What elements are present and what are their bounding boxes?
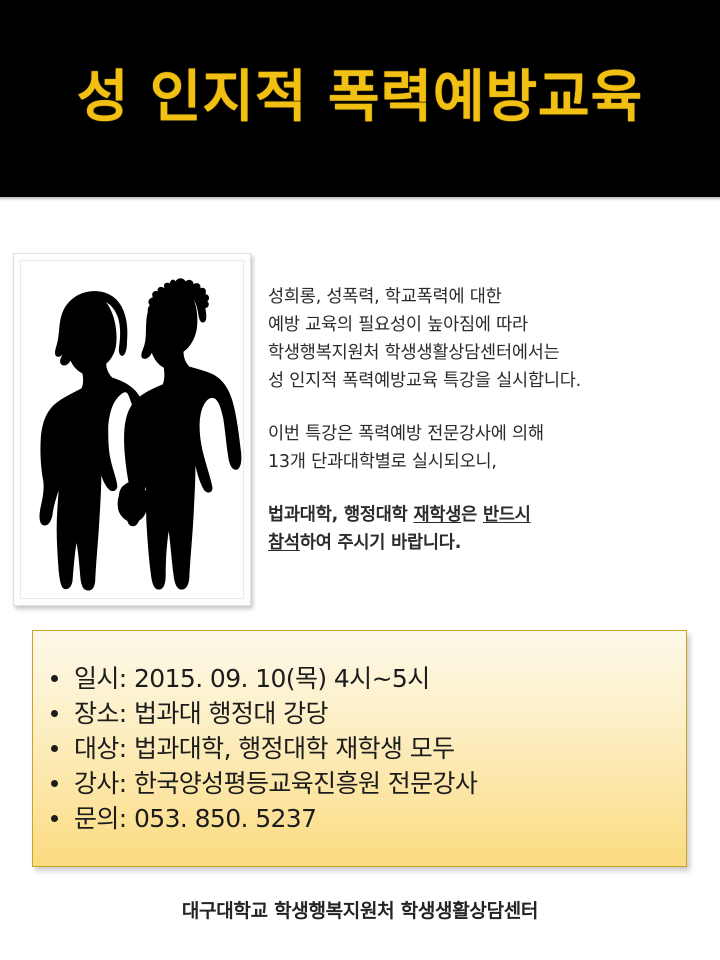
event-details-box: 일시: 2015. 09. 10(목) 4시~5시 장소: 법과대 행정대 강당… — [32, 630, 687, 867]
detail-contact: 문의: 053. 850. 5237 — [74, 804, 316, 833]
paragraph-lecturer-line-1: 이번 특강은 폭력예방 전문강사에 의해 — [268, 420, 720, 448]
paragraph-attendance-line-2: 참석하여 주시기 바랍니다. — [268, 529, 720, 557]
notice-request: 하여 주시기 바랍니다. — [300, 533, 461, 553]
notice-attend-underlined: 참석 — [268, 533, 300, 553]
notice-colleges: 법과대학, 행정대학 — [268, 505, 413, 525]
notice-must-underlined: 반드시 — [483, 505, 531, 525]
bullet-dot-icon — [51, 815, 58, 822]
list-item: 대상: 법과대학, 행정대학 재학생 모두 — [47, 731, 686, 766]
title-banner-edge — [0, 197, 720, 201]
body-copy: 성희롱, 성폭력, 학교폭력에 대한 예방 교육의 필요성이 높아짐에 따라 학… — [268, 283, 720, 557]
detail-location: 장소: 법과대 행정대 강당 — [74, 699, 328, 728]
paragraph-attendance-line-1: 법과대학, 행정대학 재학생은 반드시 — [268, 501, 720, 529]
event-details-list: 일시: 2015. 09. 10(목) 4시~5시 장소: 법과대 행정대 강당… — [33, 631, 686, 836]
bullet-dot-icon — [51, 780, 58, 787]
detail-audience: 대상: 법과대학, 행정대학 재학생 모두 — [74, 734, 455, 763]
page-title: 성 인지적 폭력예방교육 — [0, 62, 720, 134]
paragraph-attendance-notice: 법과대학, 행정대학 재학생은 반드시 참석하여 주시기 바랍니다. — [268, 501, 720, 557]
list-item: 강사: 한국양성평등교육진흥원 전문강사 — [47, 766, 686, 801]
poster-page: { "poster": { "title": "성 인지적 폭력예방교육", "… — [0, 0, 720, 960]
bullet-dot-icon — [51, 710, 58, 717]
paragraph-intro: 성희롱, 성폭력, 학교폭력에 대한 예방 교육의 필요성이 높아짐에 따라 학… — [268, 283, 720, 395]
organizer-footer: 대구대학교 학생행복지원처 학생생활상담센터 — [0, 896, 720, 923]
silhouette-photo-frame — [13, 253, 251, 606]
list-item: 일시: 2015. 09. 10(목) 4시~5시 — [47, 661, 686, 696]
notice-students-underlined: 재학생 — [413, 505, 461, 525]
paragraph-intro-line-4: 성 인지적 폭력예방교육 특강을 실시합니다. — [268, 367, 720, 395]
couple-silhouette-icon — [21, 261, 243, 598]
paragraph-intro-line-2: 예방 교육의 필요성이 높아짐에 따라 — [268, 311, 720, 339]
bullet-dot-icon — [51, 745, 58, 752]
list-item: 장소: 법과대 행정대 강당 — [47, 696, 686, 731]
detail-date: 일시: 2015. 09. 10(목) 4시~5시 — [74, 664, 430, 693]
paragraph-lecturer-line-2: 13개 단과대학별로 실시되오니, — [268, 448, 720, 476]
bullet-dot-icon — [51, 675, 58, 682]
paragraph-intro-line-3: 학생행복지원처 학생생활상담센터에서는 — [268, 339, 720, 367]
detail-instructor: 강사: 한국양성평등교육진흥원 전문강사 — [74, 769, 477, 798]
couple-silhouette-image — [20, 260, 244, 599]
notice-particle: 은 — [461, 505, 483, 525]
list-item: 문의: 053. 850. 5237 — [47, 801, 686, 836]
paragraph-intro-line-1: 성희롱, 성폭력, 학교폭력에 대한 — [268, 283, 720, 311]
paragraph-lecturer: 이번 특강은 폭력예방 전문강사에 의해 13개 단과대학별로 실시되오니, — [268, 420, 720, 476]
